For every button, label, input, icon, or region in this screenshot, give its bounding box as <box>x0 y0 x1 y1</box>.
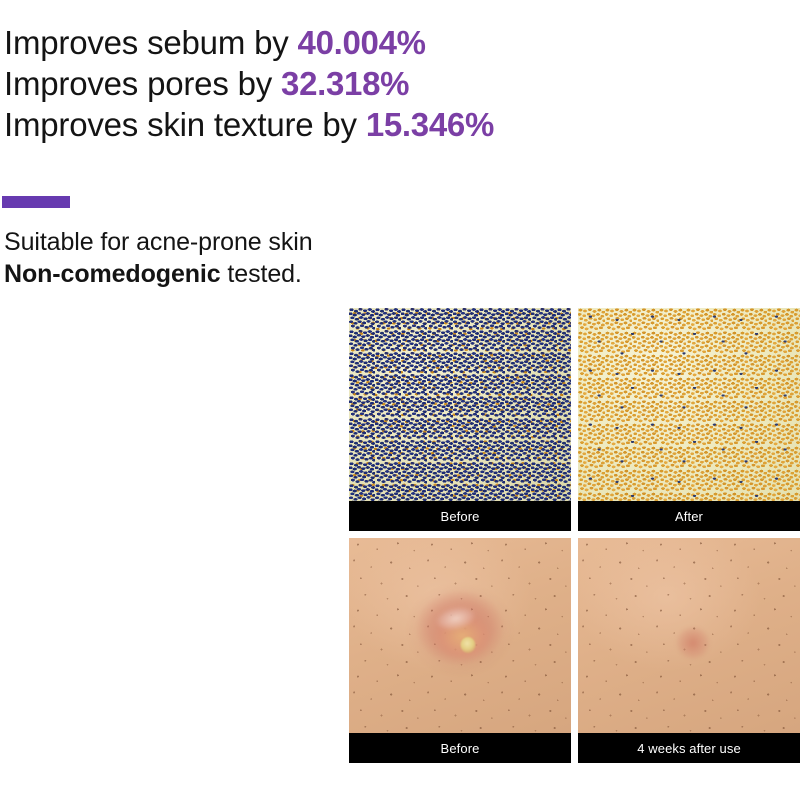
skin-pore-texture-dense <box>349 308 571 501</box>
caption-bar-pore-after: After <box>578 501 800 531</box>
caption-bar-acne-after: 4 weeks after use <box>578 733 800 763</box>
before-after-photo-grid: Before After Before <box>349 308 800 763</box>
pimple-pustule-head <box>460 637 475 653</box>
photo-cell-acne-before: Before <box>349 538 571 763</box>
caption-label: Before <box>441 510 480 523</box>
non-comedogenic-label: Non-comedogenic <box>4 260 221 288</box>
caption-label: 4 weeks after use <box>637 742 741 755</box>
claim-line-skin-texture: Improves skin texture by 15.346% <box>4 104 704 145</box>
claim-label-skin-texture: Improves skin texture by <box>4 106 366 143</box>
claim-line-pores: Improves pores by 32.318% <box>4 63 704 104</box>
claim-line-sebum: Improves sebum by 40.004% <box>4 22 704 63</box>
skin-healed-faint-mark <box>578 538 800 733</box>
photo-cell-pore-after: After <box>578 308 800 531</box>
acne-after-image <box>578 538 800 733</box>
acne-before-image <box>349 538 571 733</box>
claim-value-skin-texture: 15.346% <box>366 106 494 143</box>
claim-value-sebum: 40.004% <box>298 24 426 61</box>
skin-pore-texture-reduced <box>578 308 800 501</box>
claim-label-sebum: Improves sebum by <box>4 24 298 61</box>
skin-with-inflamed-pimple <box>349 538 571 733</box>
suitability-block: Suitable for acne-prone skin Non-comedog… <box>4 226 644 290</box>
purple-divider-bar <box>2 196 70 208</box>
suitability-line-acne-prone: Suitable for acne-prone skin <box>4 226 644 258</box>
photo-cell-acne-after: 4 weeks after use <box>578 538 800 763</box>
tested-label: tested. <box>221 260 302 288</box>
photo-cell-pore-before: Before <box>349 308 571 531</box>
pore-texture-after-image <box>578 308 800 501</box>
claims-block: Improves sebum by 40.004% Improves pores… <box>4 22 704 145</box>
pore-texture-before-image <box>349 308 571 501</box>
caption-bar-acne-before: Before <box>349 733 571 763</box>
claim-value-pores: 32.318% <box>281 65 409 102</box>
caption-bar-pore-before: Before <box>349 501 571 531</box>
suitability-line-non-comedogenic: Non-comedogenic tested. <box>4 258 644 290</box>
faded-pimple-mark <box>676 627 710 659</box>
caption-label: After <box>675 510 703 523</box>
caption-label: Before <box>441 742 480 755</box>
claim-label-pores: Improves pores by <box>4 65 281 102</box>
